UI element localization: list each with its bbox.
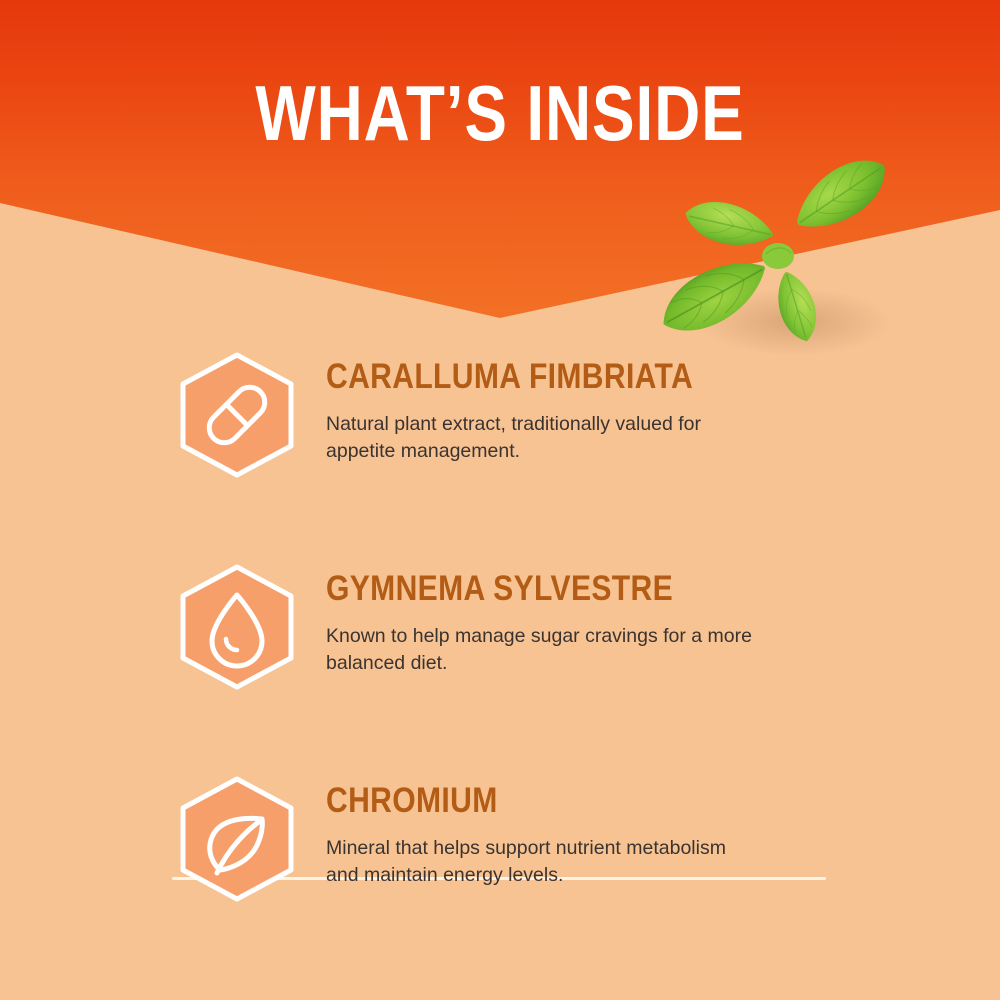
ingredient-row: GYMNEMA SYLVESTRE Known to help manage s…: [0, 557, 1000, 747]
ingredient-description: Known to help manage sugar cravings for …: [326, 623, 756, 677]
ingredients-list: CARALLUMA FIMBRIATA Natural plant extrac…: [0, 345, 1000, 959]
whats-inside-infographic: WHAT’S INSIDE: [0, 0, 1000, 1000]
ingredient-description: Mineral that helps support nutrient meta…: [326, 835, 756, 889]
page-title: WHAT’S INSIDE: [90, 74, 910, 152]
ingredient-title: CHROMIUM: [326, 783, 696, 818]
leaf-icon: [178, 775, 296, 903]
ingredient-row: CARALLUMA FIMBRIATA Natural plant extrac…: [0, 345, 1000, 535]
ingredient-description: Natural plant extract, traditionally val…: [326, 411, 756, 465]
ingredient-text: CHROMIUM Mineral that helps support nutr…: [326, 769, 756, 889]
ingredient-title: GYMNEMA SYLVESTRE: [326, 571, 696, 606]
ingredient-row: CHROMIUM Mineral that helps support nutr…: [0, 769, 1000, 959]
ingredient-title: CARALLUMA FIMBRIATA: [326, 359, 696, 394]
droplet-icon: [178, 563, 296, 691]
ingredient-text: GYMNEMA SYLVESTRE Known to help manage s…: [326, 557, 756, 677]
capsule-icon: [178, 351, 296, 479]
ingredient-text: CARALLUMA FIMBRIATA Natural plant extrac…: [326, 345, 756, 465]
basil-leaves-icon: [645, 160, 905, 360]
